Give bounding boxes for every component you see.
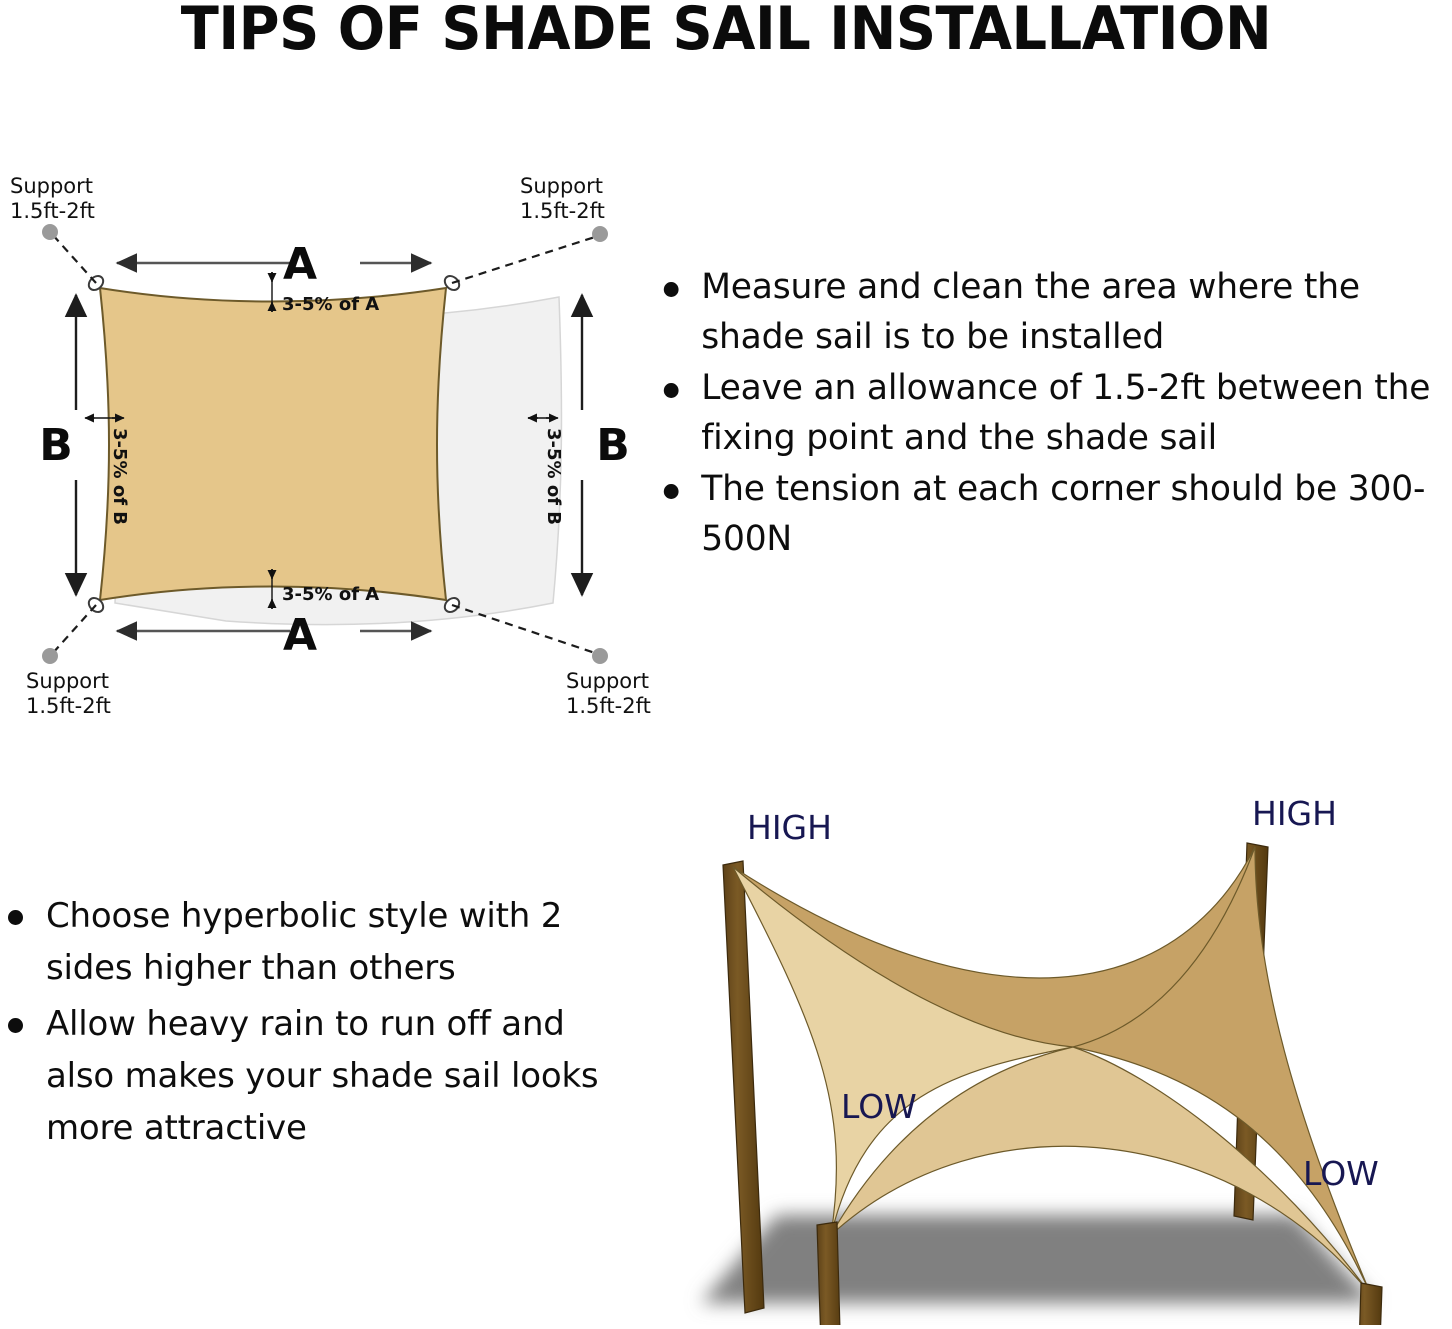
label-high-left: HIGH: [747, 808, 832, 847]
support-label-br-line2: 1.5ft-2ft: [566, 694, 651, 718]
sail-fabric: [100, 288, 446, 600]
support-label-tr-line2: 1.5ft-2ft: [520, 199, 605, 223]
dim-label-b-left: B: [39, 420, 73, 471]
bottom-bullet-list: Choose hyperbolic style with 2 sides hig…: [0, 890, 630, 1154]
dim-label-a-top: A: [283, 239, 317, 290]
list-item: Measure and clean the area where the sha…: [650, 262, 1440, 362]
support-dot-top-left: [42, 224, 58, 240]
page-title: TIPS OF SHADE SAIL INSTALLATION: [51, 0, 1401, 62]
installation-tips-list: Measure and clean the area where the sha…: [650, 262, 1452, 662]
annotation-top-curve-text: 3-5% of A: [282, 294, 379, 315]
dim-label-b-right: B: [596, 420, 630, 471]
support-label-tl-line2: 1.5ft-2ft: [10, 199, 95, 223]
dimension-a-top: A: [117, 239, 431, 290]
rect-sail-svg: Support 1.5ft-2ft Support 1.5ft-2ft Supp…: [0, 160, 660, 740]
ground-shadow: [701, 1215, 1375, 1303]
support-label-bl-line1: Support: [26, 669, 109, 693]
list-item: Leave an allowance of 1.5-2ft between th…: [650, 363, 1440, 463]
support-line-bottom-left: [52, 605, 96, 654]
support-label-br-line1: Support: [566, 669, 649, 693]
top-bullet-list: Measure and clean the area where the sha…: [650, 262, 1452, 564]
hyperbolic-sail-svg: HIGH HIGH LOW LOW: [655, 795, 1452, 1325]
support-dot-bottom-left: [42, 648, 58, 664]
rect-sail-diagram: Support 1.5ft-2ft Support 1.5ft-2ft Supp…: [0, 160, 660, 740]
support-dot-top-right: [592, 226, 608, 242]
dimension-b-right: B: [582, 295, 630, 595]
support-line-top-right: [452, 236, 598, 283]
hyperbolic-tips-list: Choose hyperbolic style with 2 sides hig…: [0, 890, 630, 1220]
list-item: Allow heavy rain to run off and also mak…: [0, 998, 630, 1154]
annotation-bottom-curve-text: 3-5% of A: [282, 584, 379, 605]
support-label-bl-line2: 1.5ft-2ft: [26, 694, 111, 718]
support-label-tr-line1: Support: [520, 174, 603, 198]
support-dot-bottom-right: [592, 648, 608, 664]
dim-label-a-bottom: A: [283, 610, 317, 661]
annotation-right-curve-text: 3-5% of B: [543, 428, 564, 525]
dimension-b-left: B: [39, 295, 76, 595]
label-low-right: LOW: [1303, 1154, 1379, 1193]
list-item: The tension at each corner should be 300…: [650, 464, 1440, 564]
label-low-left: LOW: [841, 1087, 917, 1126]
label-high-right: HIGH: [1252, 795, 1337, 833]
post-far-left: [723, 861, 764, 1313]
list-item: Choose hyperbolic style with 2 sides hig…: [0, 890, 630, 994]
annotation-left-curve-text: 3-5% of B: [109, 428, 130, 525]
sail-shape-group: [100, 288, 561, 625]
hyperbolic-sail-illustration: HIGH HIGH LOW LOW: [655, 795, 1452, 1325]
support-line-top-left: [52, 234, 96, 283]
support-label-tl-line1: Support: [10, 174, 93, 198]
